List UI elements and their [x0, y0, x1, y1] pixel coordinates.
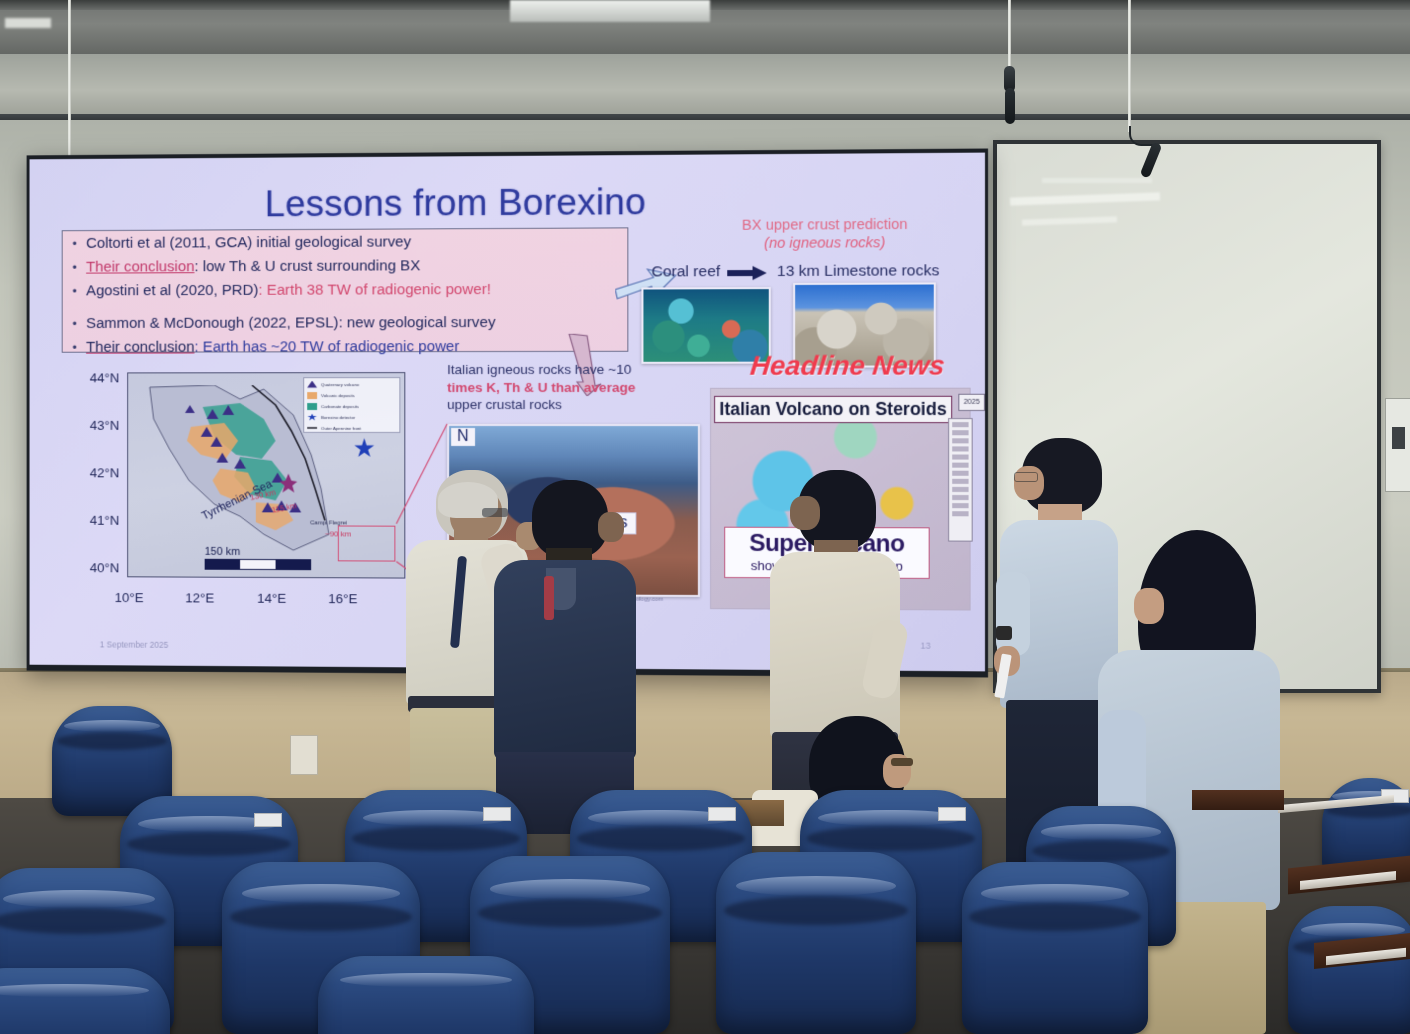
- map-x-tick: 16°E: [317, 591, 369, 606]
- igneous-line1: Italian igneous rocks have ~10: [447, 362, 631, 377]
- map-x-tick: 12°E: [174, 590, 225, 605]
- ceiling-soffit: [0, 54, 1410, 120]
- map-zoom-rect: [338, 525, 396, 561]
- bullet-dot: •: [72, 234, 86, 253]
- news-headline-title: Italian Volcano on Steroids: [714, 396, 952, 423]
- legend-label: Quaternary volcano: [321, 382, 359, 387]
- map-legend: Quaternary volcano Volcanic deposits Car…: [303, 377, 400, 433]
- list-item: • Sammon & McDonough (2022, EPSL): new g…: [72, 313, 627, 334]
- slide-title: Lessons from Borexino: [265, 181, 646, 225]
- news-map-legend: [948, 418, 973, 542]
- ceiling-light: [510, 0, 710, 22]
- chair-r2-c5[interactable]: [1288, 906, 1410, 1034]
- map-y-tick: 40°N: [69, 560, 120, 575]
- desk-right-4: [1192, 790, 1284, 810]
- bullet-lead: Their conclusion: [86, 339, 194, 356]
- news-date-badge: 2025: [958, 394, 985, 411]
- igneous-line2: times K, Th & U than average: [447, 380, 635, 395]
- ceiling-light-secondary: [5, 18, 51, 28]
- bullet-text: : Earth has ~20 TW of radiogenic power: [194, 338, 459, 355]
- legend-swatch-carbonate: [307, 403, 317, 410]
- bullet-lead: Their conclusion: [86, 258, 194, 275]
- legend-swatch-apennine-front: [307, 424, 317, 431]
- bullet-dot: •: [72, 282, 86, 301]
- legend-label: Volcanic deposits: [321, 393, 355, 398]
- legend-swatch-volcanic-deposits: [307, 392, 317, 399]
- chair-r2-c4[interactable]: [962, 862, 1148, 1034]
- lecture-hall-photo: Lessons from Borexino • Coltorti et al (…: [0, 0, 1410, 1034]
- slide-date: 1 September 2025: [100, 639, 169, 649]
- chair-r1-c1[interactable]: [318, 956, 534, 1034]
- legend-swatch-volcano: [307, 381, 317, 388]
- coral-reef-row: Coral reef 13 km Limestone rocks: [652, 262, 940, 281]
- chair-r2-c3[interactable]: [716, 852, 916, 1034]
- bullet-text: : low Th & U crust surrounding BX: [194, 257, 420, 275]
- coral-reef-label: Coral reef: [652, 263, 721, 281]
- map-x-tick: 10°E: [104, 590, 155, 605]
- vesuvius-corner-label: N: [451, 428, 474, 446]
- bx-prediction-note: BX upper crust prediction (no igneous ro…: [708, 216, 942, 254]
- list-item: • Their conclusion: Earth has ~20 TW of …: [72, 337, 627, 358]
- borexino-detector-star-icon: ★: [353, 435, 376, 461]
- italy-geology-map: 44°N 43°N 42°N 41°N 40°N 10°E 12°E 14°E …: [69, 366, 419, 625]
- chair-r1-c0[interactable]: [0, 968, 170, 1034]
- list-item: • Their conclusion: low Th & U crust sur…: [72, 256, 627, 278]
- bullet-list: • Coltorti et al (2011, GCA) initial geo…: [72, 231, 627, 362]
- limestone-label: 13 km Limestone rocks: [777, 262, 939, 281]
- list-item: • Coltorti et al (2011, GCA) initial geo…: [72, 231, 627, 254]
- map-y-tick: 44°N: [69, 370, 120, 385]
- igneous-rocks-note: Italian igneous rocks have ~10 times K, …: [447, 361, 670, 414]
- map-y-tick: 42°N: [69, 465, 120, 480]
- slide-page-number: 13: [920, 641, 930, 651]
- wall-outlet-plate: [290, 735, 318, 775]
- legend-swatch-detector: [307, 413, 317, 420]
- bx-prediction-line2: (no igneous rocks): [708, 234, 942, 253]
- bx-prediction-line1: BX upper crust prediction: [708, 216, 942, 235]
- legend-label: Outer Apennine front: [321, 425, 361, 430]
- bullet-text: Sammon & McDonough (2022, EPSL): new geo…: [86, 313, 627, 334]
- map-x-tick: 14°E: [246, 591, 297, 606]
- headline-news-heading: Headline News: [749, 350, 946, 382]
- bullet-dot: •: [72, 258, 86, 277]
- legend-label: Carbonate deposits: [321, 404, 359, 409]
- list-item: • Agostini et al (2020, PRD): Earth 38 T…: [72, 280, 627, 302]
- right-arrow-icon: [727, 265, 770, 278]
- wall-sign: [1385, 398, 1410, 492]
- hanging-microphone: [1000, 0, 1050, 170]
- person-dark-polo: [490, 480, 640, 830]
- map-y-tick: 41°N: [69, 513, 120, 528]
- legend-label: Borexino detector: [321, 414, 355, 419]
- map-scale-bar: 150 km: [205, 546, 311, 570]
- bullet-text: Coltorti et al (2011, GCA) initial geolo…: [86, 231, 627, 254]
- bullet-text: : Earth 38 TW of radiogenic power!: [258, 281, 491, 299]
- igneous-line3: upper crustal rocks: [447, 397, 562, 412]
- map-scale-label: 150 km: [205, 546, 311, 558]
- map-plot-area: Quaternary volcano Volcanic deposits Car…: [127, 372, 405, 578]
- hanging-microphone: [1118, 0, 1188, 220]
- bullet-dot: •: [72, 338, 86, 357]
- bullet-dot: •: [72, 314, 86, 333]
- bullet-lead: Agostini et al (2020, PRD): [86, 282, 258, 299]
- map-y-tick: 43°N: [69, 418, 120, 433]
